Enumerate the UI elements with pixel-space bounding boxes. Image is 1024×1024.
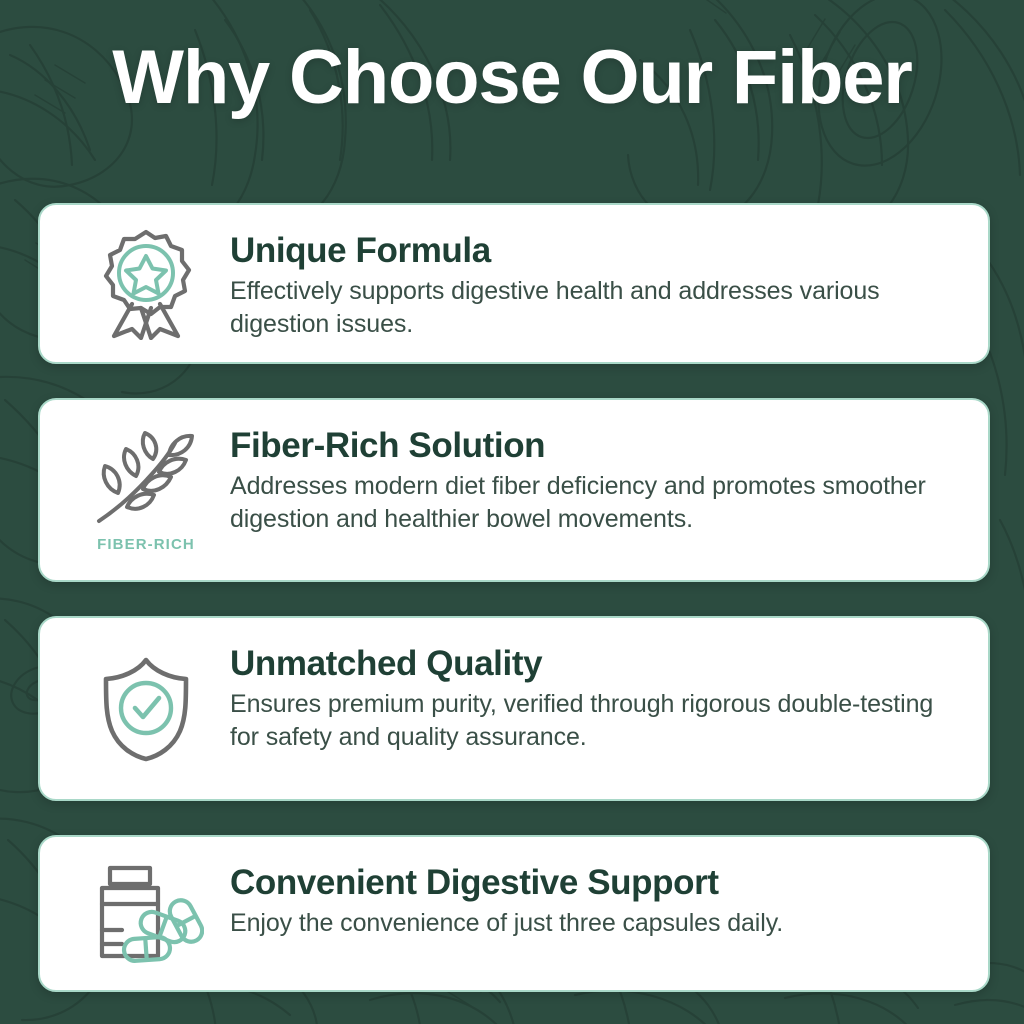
card-title: Unmatched Quality [230, 644, 962, 683]
card-icon-container [62, 226, 230, 340]
page-title: Why Choose Our Fiber [0, 38, 1024, 118]
card-title: Fiber-Rich Solution [230, 426, 962, 465]
card-description: Effectively supports digestive health an… [230, 275, 962, 342]
card-text-container: Unmatched Quality Ensures premium purity… [230, 638, 962, 755]
card-text-container: Unique Formula Effectively supports dige… [230, 225, 962, 342]
pill-bottle-icon [88, 864, 204, 964]
page-title-container: Why Choose Our Fiber [0, 38, 1024, 118]
card-description: Addresses modern diet fiber deficiency a… [230, 470, 962, 537]
icon-caption-fiber-rich: FIBER-RICH [97, 536, 195, 553]
feature-card-fiber-rich-solution[interactable]: FIBER-RICH Fiber-Rich Solution Addresses… [38, 398, 990, 582]
feature-card-unique-formula[interactable]: Unique Formula Effectively supports dige… [38, 203, 990, 364]
feature-card-list: Unique Formula Effectively supports dige… [38, 203, 990, 992]
feature-card-convenient-digestive-support[interactable]: Convenient Digestive Support Enjoy the c… [38, 835, 990, 992]
card-title: Unique Formula [230, 231, 962, 270]
infographic-poster: Why Choose Our Fiber [0, 0, 1024, 1024]
card-text-container: Fiber-Rich Solution Addresses modern die… [230, 420, 962, 537]
feature-card-unmatched-quality[interactable]: Unmatched Quality Ensures premium purity… [38, 616, 990, 801]
card-icon-container: FIBER-RICH [62, 427, 230, 553]
card-title: Convenient Digestive Support [230, 863, 962, 902]
card-icon-container [62, 653, 230, 763]
card-text-container: Convenient Digestive Support Enjoy the c… [230, 857, 962, 940]
wheat-stalk-icon [91, 429, 201, 529]
card-description: Ensures premium purity, verified through… [230, 688, 962, 755]
card-icon-container [62, 862, 230, 964]
award-ribbon-icon [94, 228, 198, 340]
card-description: Enjoy the convenience of just three caps… [230, 907, 962, 940]
shield-check-icon [98, 655, 194, 763]
